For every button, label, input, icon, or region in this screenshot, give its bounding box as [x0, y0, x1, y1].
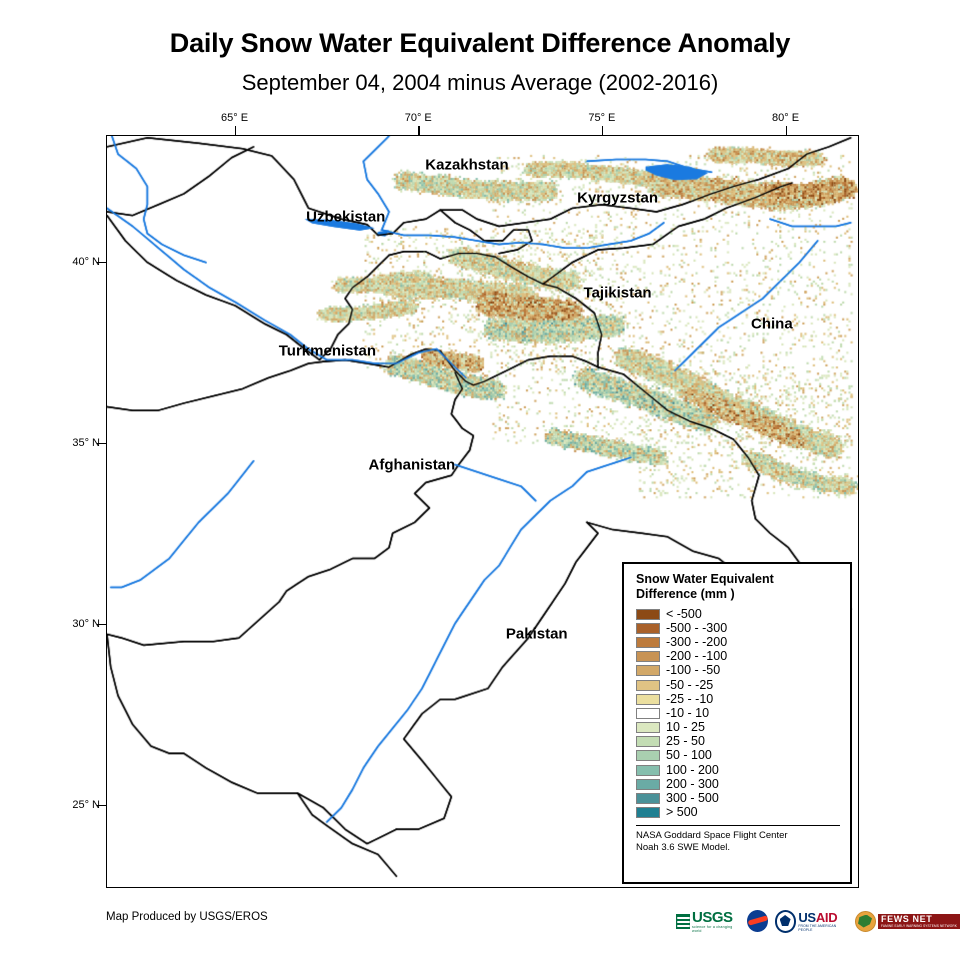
- latitude-tick: [97, 624, 106, 626]
- country-label-pakistan: Pakistan: [506, 625, 568, 642]
- country-label-kazakhstan: Kazakhstan: [425, 156, 508, 173]
- legend-class-list: < -500-500 - -300-300 - -200-200 - -100-…: [636, 607, 840, 820]
- fews-globe-icon: [855, 911, 876, 932]
- fews-wordmark: FEWS NET: [881, 915, 957, 924]
- legend-label: 10 - 25: [666, 721, 705, 734]
- usaid-us: US: [798, 910, 815, 925]
- legend-swatch: [636, 637, 660, 648]
- nasa-swoosh-icon: [748, 915, 768, 925]
- legend-row: -100 - -50: [636, 664, 840, 678]
- legend-swatch: [636, 609, 660, 620]
- legend-divider: [636, 825, 840, 826]
- agency-logos: USGS science for a changing world USAID …: [676, 908, 960, 934]
- fews-tagline: FAMINE EARLY WARNING SYSTEMS NETWORK: [881, 924, 957, 928]
- usaid-seal-icon: [775, 910, 797, 933]
- longitude-tick-label: 70° E: [405, 112, 432, 124]
- legend-label: -500 - -300: [666, 622, 727, 635]
- legend-row: -25 - -10: [636, 692, 840, 706]
- legend-row: 25 - 50: [636, 735, 840, 749]
- legend-label: > 500: [666, 806, 698, 819]
- page-subtitle: September 04, 2004 minus Average (2002-2…: [0, 70, 960, 96]
- latitude-tick: [97, 443, 106, 445]
- legend-label: -100 - -50: [666, 664, 720, 677]
- legend-label: -300 - -200: [666, 636, 727, 649]
- legend-swatch: [636, 722, 660, 733]
- legend-source-note: NASA Goddard Space Flight Center Noah 3.…: [636, 830, 840, 854]
- legend-title: Snow Water Equivalent Difference (mm ): [636, 572, 840, 602]
- longitude-tick-label: 65° E: [221, 112, 248, 124]
- usaid-logo: USAID FROM THE AMERICAN PEOPLE: [775, 910, 848, 932]
- map-credit: Map Produced by USGS/EROS: [106, 911, 268, 923]
- legend-title-line1: Snow Water Equivalent: [636, 572, 840, 587]
- legend-swatch: [636, 750, 660, 761]
- legend-row: 100 - 200: [636, 763, 840, 777]
- usgs-logo: USGS science for a changing world: [676, 910, 740, 932]
- latitude-tick-label: 25° N: [64, 799, 100, 811]
- legend-panel: Snow Water Equivalent Difference (mm ) <…: [622, 562, 852, 884]
- usaid-aid: AID: [816, 910, 838, 925]
- fewsnet-logo: FEWS NET FAMINE EARLY WARNING SYSTEMS NE…: [855, 910, 960, 932]
- longitude-tick-label: 75° E: [588, 112, 615, 124]
- legend-note-line1: NASA Goddard Space Flight Center: [636, 830, 840, 842]
- latitude-tick-label: 40° N: [64, 256, 100, 268]
- country-label-uzbekistan: Uzbekistan: [306, 209, 385, 226]
- legend-row: 300 - 500: [636, 791, 840, 805]
- legend-swatch: [636, 694, 660, 705]
- longitude-tick: [602, 126, 604, 135]
- legend-row: -300 - -200: [636, 635, 840, 649]
- legend-label: -50 - -25: [666, 679, 713, 692]
- legend-swatch: [636, 708, 660, 719]
- usgs-wordmark: USGS: [692, 910, 740, 925]
- country-label-kyrgyzstan: Kyrgyzstan: [577, 189, 658, 206]
- legend-swatch: [636, 651, 660, 662]
- legend-row: -50 - -25: [636, 678, 840, 692]
- legend-label: 100 - 200: [666, 764, 719, 777]
- legend-swatch: [636, 779, 660, 790]
- longitude-tick: [786, 126, 788, 135]
- legend-swatch: [636, 736, 660, 747]
- legend-row: -500 - -300: [636, 621, 840, 635]
- longitude-tick: [418, 126, 420, 135]
- legend-label: 300 - 500: [666, 792, 719, 805]
- legend-title-line2: Difference (mm ): [636, 587, 840, 602]
- legend-label: 25 - 50: [666, 735, 705, 748]
- longitude-tick-label: 80° E: [772, 112, 799, 124]
- nasa-logo: [747, 910, 768, 932]
- legend-row: -10 - 10: [636, 706, 840, 720]
- legend-swatch: [636, 680, 660, 691]
- map-page: Daily Snow Water Equivalent Difference A…: [0, 0, 960, 960]
- legend-swatch: [636, 623, 660, 634]
- legend-row: < -500: [636, 607, 840, 621]
- latitude-tick: [97, 262, 106, 264]
- usgs-wave-icon: [676, 914, 690, 929]
- legend-label: < -500: [666, 608, 702, 621]
- legend-label: -25 - -10: [666, 693, 713, 706]
- legend-row: > 500: [636, 806, 840, 820]
- legend-swatch: [636, 665, 660, 676]
- legend-swatch: [636, 793, 660, 804]
- legend-note-line2: Noah 3.6 SWE Model.: [636, 842, 840, 854]
- usaid-tagline: FROM THE AMERICAN PEOPLE: [798, 924, 848, 932]
- legend-label: 50 - 100: [666, 749, 712, 762]
- legend-row: 10 - 25: [636, 721, 840, 735]
- latitude-tick-label: 30° N: [64, 618, 100, 630]
- usgs-tagline: science for a changing world: [692, 925, 740, 933]
- country-label-tajikistan: Tajikistan: [584, 285, 652, 302]
- legend-label: -10 - 10: [666, 707, 709, 720]
- country-label-turkmenistan: Turkmenistan: [279, 343, 376, 360]
- longitude-tick: [235, 126, 237, 135]
- usaid-wordmark: USAID: [798, 911, 848, 924]
- legend-row: 200 - 300: [636, 777, 840, 791]
- legend-label: -200 - -100: [666, 650, 727, 663]
- legend-label: 200 - 300: [666, 778, 719, 791]
- legend-swatch: [636, 765, 660, 776]
- country-label-china: China: [751, 316, 793, 333]
- legend-swatch: [636, 807, 660, 818]
- country-label-afghanistan: Afghanistan: [369, 457, 456, 474]
- legend-row: 50 - 100: [636, 749, 840, 763]
- latitude-tick: [97, 805, 106, 807]
- latitude-tick-label: 35° N: [64, 437, 100, 449]
- page-title: Daily Snow Water Equivalent Difference A…: [0, 28, 960, 59]
- legend-row: -200 - -100: [636, 650, 840, 664]
